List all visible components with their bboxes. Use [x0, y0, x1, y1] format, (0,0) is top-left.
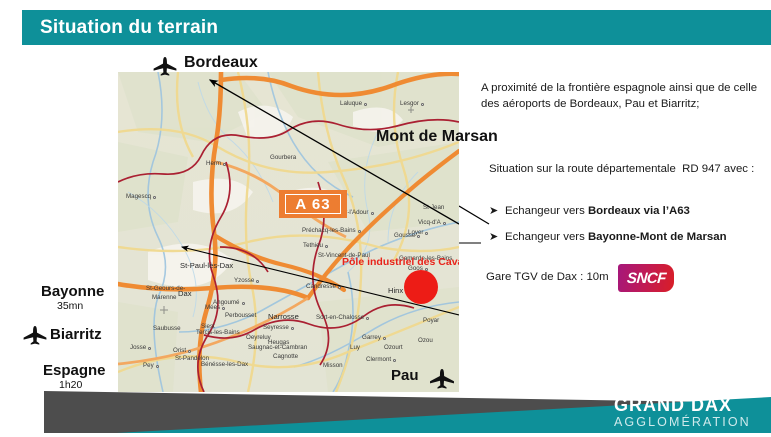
map-town-label: Vicq-d'A [418, 219, 441, 226]
airplane-icon [152, 56, 178, 76]
map-town-label: Misson [323, 362, 343, 369]
map-town-label: Tercis-les-Bains [196, 329, 240, 336]
map-town-label: Garrey [362, 334, 381, 341]
map-town-dot [443, 222, 446, 225]
paragraph-situation: Situation sur la route départementale RD… [489, 161, 761, 178]
map-town-label: Magescq [126, 193, 151, 200]
map-town-label: Josse [130, 344, 146, 351]
label-bordeaux: Bordeaux [184, 54, 258, 72]
label-espagne: Espagne [43, 362, 106, 379]
map-town-dot [256, 280, 259, 283]
map-town-label: Narrosse [268, 312, 299, 321]
bullet-arrow-icon: ➤ [489, 204, 505, 217]
map-town-label: Tethieu [303, 242, 323, 249]
map-town-dot [383, 337, 386, 340]
slide-title-bar: Situation du terrain [22, 10, 771, 45]
map-town-label: Bénésse-les-Dax [201, 361, 248, 368]
paragraph-proximite: A proximité de la frontière espagnole ai… [481, 80, 766, 112]
map-town-label: St-Geours-de- [146, 285, 185, 292]
map-town-label: Loyer [408, 229, 423, 236]
site-marker-label: Pôle industriel des Cavaliers [342, 256, 459, 268]
map-town-label: Cagnotte [273, 353, 298, 360]
map-town-label: Ozou [418, 337, 433, 344]
grand-dax-logo-line1: GRAND DAX [614, 396, 751, 415]
map-town-dot [153, 196, 156, 199]
map-town-label: Seyresse [263, 324, 289, 331]
grand-dax-logo-line2: AGGLOMÉRATION [614, 415, 751, 429]
page-title: Situation du terrain [40, 17, 218, 39]
map-town-label: Marenne [152, 294, 176, 301]
bullet-2-prefix: Echangeur vers [505, 231, 588, 243]
label-mont-de-marsan: Mont de Marsan [376, 128, 498, 146]
map-town-label: Herm [206, 160, 221, 167]
map-town-label: Angoumé [213, 299, 240, 306]
map-town-label: Pey [143, 362, 154, 369]
bullet-echangeur-bayonne: ➤Echangeur vers Bayonne-Mont de Marsan [489, 230, 727, 243]
map-canvas[interactable]: LaluqueLesgorHermGourberaPontonx-sur-l'A… [118, 72, 459, 392]
map-town-dot [156, 365, 159, 368]
map-town-dot [366, 317, 369, 320]
map-town-label: Heugas [268, 339, 289, 346]
map-town-dot [421, 103, 424, 106]
map-town-label: Perbousset [225, 312, 256, 319]
map-town-label: St-Paul-lès-Dax [180, 261, 233, 270]
map-town-dot [223, 163, 226, 166]
map-town-label: Préchacq-les-Bains [302, 227, 356, 234]
map-town-dot [425, 232, 428, 235]
airplane-icon [22, 325, 48, 345]
map-town-label: Clermont [366, 356, 391, 363]
label-bayonne-time: 35mn [57, 300, 83, 312]
map-town-label: Ozourt [384, 344, 403, 351]
slide-canvas: Situation du terrain [0, 0, 771, 437]
map-town-dot [371, 212, 374, 215]
map-town-label: Laluque [340, 100, 362, 107]
map-town-dot [325, 245, 328, 248]
map-town-dot [291, 327, 294, 330]
label-pau: Pau [391, 367, 419, 384]
map-town-label: St-Jean [423, 204, 444, 211]
map-town-label: Saubusse [153, 325, 181, 332]
map-town-label: Gourbera [270, 154, 296, 161]
bullet-2-strong: Bayonne-Mont de Marsan [588, 231, 727, 243]
map-town-label: Sort-en-Chalosse [316, 314, 364, 321]
map-town-dot [148, 347, 151, 350]
map-town-dot [188, 350, 191, 353]
grand-dax-logo: GRAND DAX AGGLOMÉRATION [614, 396, 751, 429]
map-town-label: Luy [350, 344, 360, 351]
a63-highway-badge: A 63 [279, 190, 347, 218]
map-town-dot [242, 302, 245, 305]
map-town-dot [358, 230, 361, 233]
map-town-label: Lesgor [400, 100, 419, 107]
sncf-logo: SNCF [618, 264, 674, 292]
sncf-logo-text: SNCF [626, 270, 666, 287]
label-bayonne: Bayonne [41, 283, 104, 300]
map-town-dot [393, 359, 396, 362]
map-town-label: Hinx [388, 286, 403, 295]
map-town-dot [222, 307, 225, 310]
map-town-dot [364, 103, 367, 106]
bullet-1-prefix: Echangeur vers [505, 205, 588, 217]
label-biarritz: Biarritz [50, 326, 102, 343]
gare-tgv-text: Gare TGV de Dax : 10m [486, 271, 609, 283]
map-town-dot [338, 286, 341, 289]
map-town-label: Siest [201, 323, 215, 330]
map-town-label: Candresse [306, 283, 336, 290]
bullet-echangeur-bordeaux: ➤Echangeur vers Bordeaux via l’A63 [489, 204, 690, 217]
bullet-arrow-icon: ➤ [489, 230, 505, 243]
map-town-label: Poyar [423, 317, 439, 324]
a63-badge-label: A 63 [285, 194, 341, 214]
site-marker-dot [404, 270, 438, 304]
bullet-1-strong: Bordeaux via l’A63 [588, 205, 690, 217]
map-town-label: Yzosse [234, 277, 254, 284]
map-town-label: Orist [173, 347, 186, 354]
